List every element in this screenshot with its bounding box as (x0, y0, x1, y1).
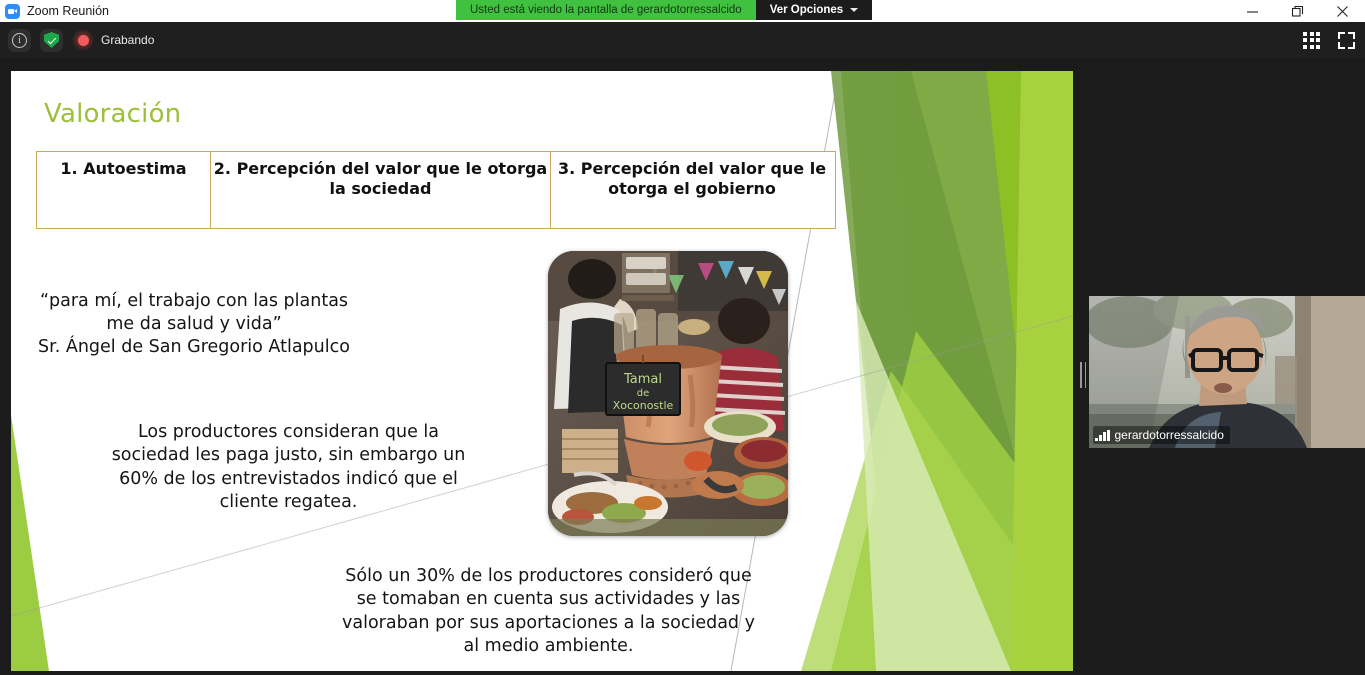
participant-name: gerardotorressalcido (1115, 428, 1224, 442)
titlebar-left: Zoom Reunión (0, 4, 109, 19)
shield-check-icon[interactable] (40, 29, 63, 52)
drag-handle-icon[interactable] (1077, 355, 1089, 395)
info-icon[interactable]: i (8, 29, 31, 52)
svg-text:Tamal: Tamal (623, 372, 662, 387)
market-stall-photo: Tamal de Xoconostle (548, 251, 788, 536)
window-titlebar: Zoom Reunión Usted está viendo la pantal… (0, 0, 1365, 22)
window-title: Zoom Reunión (27, 4, 109, 18)
recording-dot (78, 35, 89, 46)
zoom-meeting-window: Zoom Reunión Usted está viendo la pantal… (0, 0, 1365, 675)
table-header-cell: 3. Percepción del valor que le otorga el… (551, 152, 833, 228)
restore-icon[interactable] (1275, 0, 1320, 22)
table-header-cell: 2. Percepción del valor que le otorga la… (211, 152, 551, 228)
window-controls (1230, 0, 1365, 22)
grid-view-icon[interactable] (1303, 32, 1320, 49)
toolbar-left-group: i Grabando (8, 22, 154, 58)
close-icon[interactable] (1320, 0, 1365, 22)
view-options-button[interactable]: Ver Opciones (756, 0, 873, 20)
zoom-camera-icon (5, 4, 20, 19)
participant-video-tile[interactable]: gerardotorressalcido (1089, 296, 1365, 448)
info-glyph: i (12, 33, 27, 48)
svg-text:Xoconostle: Xoconostle (613, 399, 674, 412)
chevron-down-icon (850, 8, 858, 12)
toolbar-right-group (1303, 22, 1355, 58)
table-header-cell: 1. Autoestima (37, 152, 211, 228)
share-status-text: Usted está viendo la pantalla de gerardo… (456, 0, 756, 20)
testimonial-quote: “para mí, el trabajo con las plantas me … (19, 290, 369, 359)
svg-text:de: de (637, 388, 650, 399)
screen-share-banner: Usted está viendo la pantalla de gerardo… (456, 0, 872, 20)
participant-name-badge: gerardotorressalcido (1093, 426, 1230, 444)
valoracion-table: 1. Autoestima 2. Percepción del valor qu… (36, 151, 836, 229)
signal-strength-icon (1095, 430, 1110, 441)
minimize-icon[interactable] (1230, 0, 1275, 22)
recording-dot-icon[interactable] (72, 29, 94, 51)
shared-slide[interactable]: Valoración 1. Autoestima 2. Percepción d… (11, 71, 1073, 671)
recording-label: Grabando (101, 33, 154, 47)
fullscreen-icon[interactable] (1338, 32, 1355, 49)
government-paragraph: Sólo un 30% de los productores consideró… (336, 565, 761, 658)
view-options-label: Ver Opciones (770, 4, 844, 16)
shield-shape (44, 32, 59, 48)
zoom-toolbar: i Grabando (0, 22, 1365, 58)
society-paragraph: Los productores consideran que la socied… (101, 421, 476, 514)
page-title: Valoración (44, 99, 181, 129)
